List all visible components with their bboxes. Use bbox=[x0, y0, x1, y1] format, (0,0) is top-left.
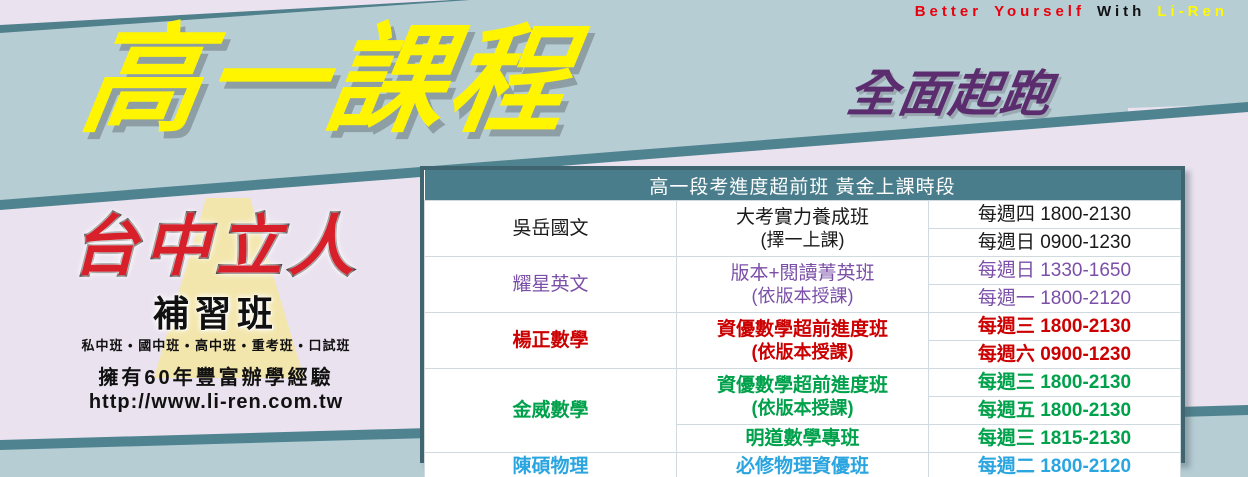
schedule-table: 高一段考進度超前班 黃金上課時段 吳岳國文 大考實力養成班 (擇一上課) 每週四… bbox=[424, 170, 1181, 477]
cell-course-extra: 明道數學專班 bbox=[677, 425, 929, 453]
cell-time: 每週日 1330-1650 bbox=[929, 257, 1181, 285]
table-row: 陳碩物理 必修物理資優班 每週二 1800-2120 bbox=[425, 453, 1181, 477]
cell-time: 每週日 0900-1230 bbox=[929, 229, 1181, 257]
logo-brand-type: 補習班 bbox=[36, 294, 396, 336]
tagline: BetterYourselfWithLi-Ren bbox=[915, 3, 1240, 21]
cell-teacher: 楊正數學 bbox=[425, 313, 677, 369]
cell-time-extra: 每週三 1815-2130 bbox=[929, 425, 1181, 453]
cell-course: 必修物理資優班 bbox=[677, 453, 929, 477]
cell-course: 版本+閱讀菁英班 (依版本授課) bbox=[677, 257, 929, 313]
logo-website-url[interactable]: http://www.li-ren.com.tw bbox=[36, 390, 396, 414]
course-sub: (依版本授課) bbox=[681, 285, 924, 307]
cell-teacher: 金威數學 bbox=[425, 369, 677, 453]
schedule-table-container: 高一段考進度超前班 黃金上課時段 吳岳國文 大考實力養成班 (擇一上課) 每週四… bbox=[420, 166, 1185, 463]
cell-time: 每週一 1800-2120 bbox=[929, 285, 1181, 313]
logo-class-tags: 私中班 • 國中班 • 高中班 • 重考班 • 口試班 bbox=[36, 338, 396, 354]
cell-teacher: 陳碩物理 bbox=[425, 453, 677, 477]
tagline-word-better: Better bbox=[915, 3, 982, 20]
cell-teacher: 耀星英文 bbox=[425, 257, 677, 313]
cell-time: 每週六 0900-1230 bbox=[929, 341, 1181, 369]
tagline-word-liren: Li-Ren bbox=[1157, 3, 1228, 20]
course-main: 資優數學超前進度班 bbox=[717, 375, 888, 396]
headline-subtitle: 全面起跑 bbox=[844, 66, 1057, 122]
table-header-title: 高一段考進度超前班 黃金上課時段 bbox=[425, 170, 1181, 201]
cell-time: 每週二 1800-2120 bbox=[929, 453, 1181, 477]
headline-title: 高一課程 bbox=[74, 16, 582, 144]
course-sub: (擇一上課) bbox=[681, 229, 924, 251]
table-row: 吳岳國文 大考實力養成班 (擇一上課) 每週四 1800-2130 bbox=[425, 201, 1181, 229]
tagline-word-yourself: Yourself bbox=[994, 3, 1085, 20]
cell-teacher: 吳岳國文 bbox=[425, 201, 677, 257]
cell-course: 資優數學超前進度班 (依版本授課) bbox=[677, 369, 929, 425]
logo-block: 台中立人 補習班 私中班 • 國中班 • 高中班 • 重考班 • 口試班 擁有6… bbox=[36, 198, 396, 418]
course-main: 資優數學超前進度班 bbox=[717, 319, 888, 340]
cell-time: 每週五 1800-2130 bbox=[929, 397, 1181, 425]
table-row: 楊正數學 資優數學超前進度班 (依版本授課) 每週三 1800-2130 bbox=[425, 313, 1181, 341]
course-sub: (依版本授課) bbox=[681, 341, 924, 363]
course-sub: (依版本授課) bbox=[681, 397, 924, 419]
banner-canvas: BetterYourselfWithLi-Ren 高一課程 全面起跑 台中立人 … bbox=[0, 0, 1248, 477]
table-row: 金威數學 資優數學超前進度班 (依版本授課) 每週三 1800-2130 bbox=[425, 369, 1181, 397]
tagline-word-with: With bbox=[1097, 3, 1145, 20]
table-row: 耀星英文 版本+閱讀菁英班 (依版本授課) 每週日 1330-1650 bbox=[425, 257, 1181, 285]
course-main: 版本+閱讀菁英班 bbox=[730, 263, 874, 284]
logo-experience-text: 擁有60年豐富辦學經驗 bbox=[36, 366, 396, 390]
cell-course: 大考實力養成班 (擇一上課) bbox=[677, 201, 929, 257]
course-main: 大考實力養成班 bbox=[736, 207, 869, 228]
cell-time: 每週三 1800-2130 bbox=[929, 369, 1181, 397]
table-header-row: 高一段考進度超前班 黃金上課時段 bbox=[425, 170, 1181, 201]
cell-time: 每週四 1800-2130 bbox=[929, 201, 1181, 229]
logo-brand-name: 台中立人 bbox=[36, 210, 396, 284]
cell-time: 每週三 1800-2130 bbox=[929, 313, 1181, 341]
cell-course: 資優數學超前進度班 (依版本授課) bbox=[677, 313, 929, 369]
